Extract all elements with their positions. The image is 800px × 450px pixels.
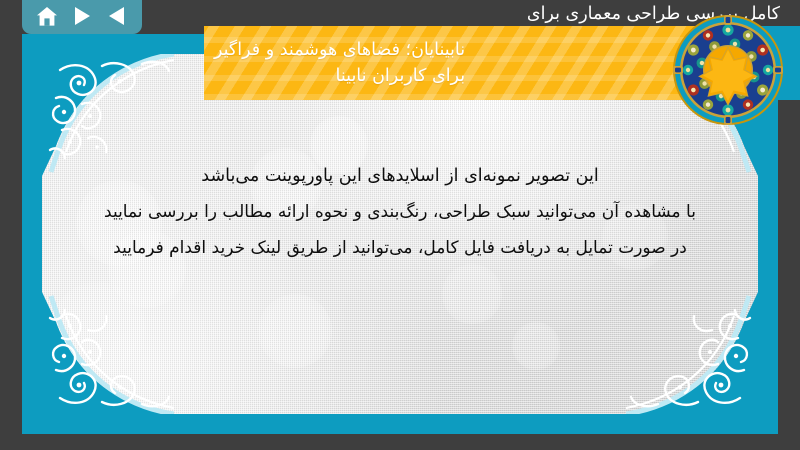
slide-preview-stage: این تصویر نمونه‌ای از اسلایدهای این پاور… [0, 0, 800, 450]
slide-body-text: این تصویر نمونه‌ای از اسلایدهای این پاور… [82, 158, 718, 266]
home-button[interactable] [34, 4, 60, 28]
triangle-left-icon [108, 6, 126, 26]
home-icon [36, 6, 58, 27]
forward-button[interactable] [69, 4, 95, 28]
slide-title-line1: کامل بررسی طراحی معماری برای [260, 2, 780, 26]
bokeh-circle [258, 294, 332, 368]
bokeh-circle [442, 264, 502, 324]
body-line-2: با مشاهده آن می‌توانید سبک طراحی، رنگ‌بن… [82, 194, 718, 230]
body-line-1: این تصویر نمونه‌ای از اسلایدهای این پاور… [82, 158, 718, 194]
navigation-toolbar [22, 0, 142, 34]
slide-title-banner: نابینایان؛ فضاهای هوشمند و فراگیر برای ک… [204, 26, 800, 100]
triangle-right-icon [73, 6, 91, 26]
banner-arrow-shape [744, 26, 800, 100]
back-button[interactable] [104, 4, 130, 28]
corner-ornament-bottom-right-icon [626, 292, 758, 414]
slide-content-area: این تصویر نمونه‌ای از اسلایدهای این پاور… [42, 54, 758, 414]
bokeh-circle [50, 282, 146, 378]
body-line-3: در صورت تمایل به دریافت فایل کامل، می‌تو… [82, 230, 718, 266]
corner-ornament-bottom-left-icon [42, 292, 174, 414]
slide-title-text: نابینایان؛ فضاهای هوشمند و فراگیر برای ک… [214, 37, 465, 89]
banner-body: نابینایان؛ فضاهای هوشمند و فراگیر برای ک… [204, 26, 744, 100]
bokeh-circle [512, 322, 560, 370]
